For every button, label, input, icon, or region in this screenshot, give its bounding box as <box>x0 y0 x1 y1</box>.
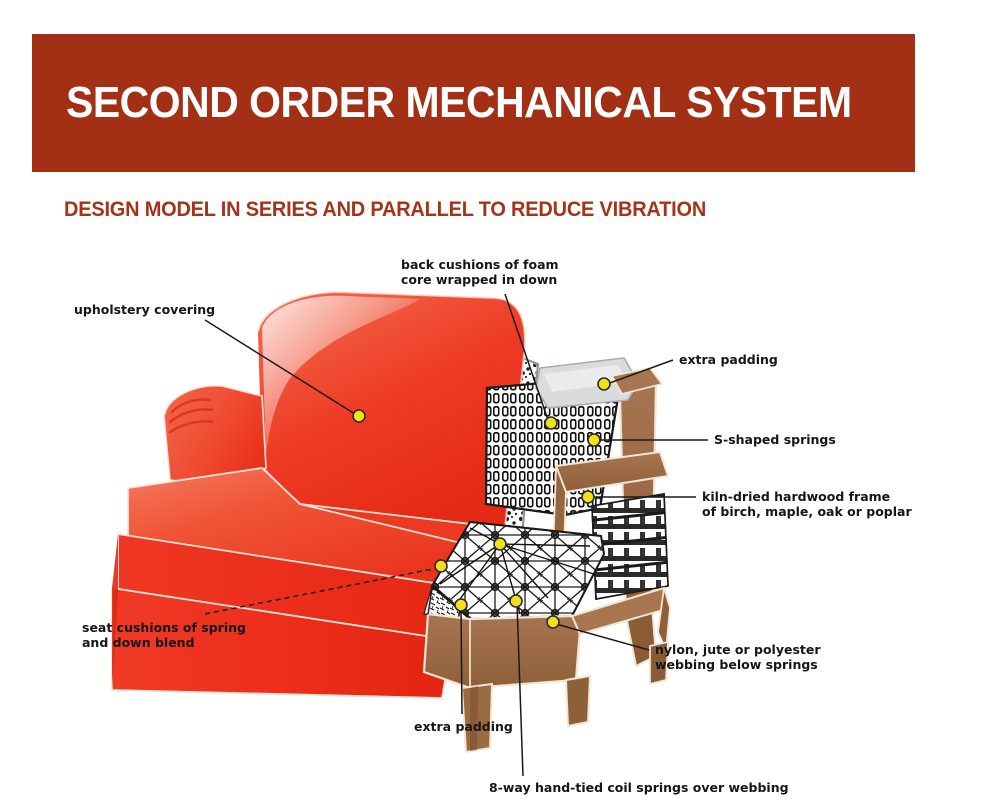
marker-nylon-jute-webbing <box>547 616 559 628</box>
sofa-cutaway-diagram: upholstery covering back cushions of foa… <box>0 236 985 802</box>
label-kiln-dried-frame: kiln-dried hardwood frame of birch, mapl… <box>702 489 912 519</box>
marker-extra-padding-bottom <box>455 599 467 611</box>
marker-back-cushions <box>545 417 557 429</box>
label-extra-padding-top: extra padding <box>679 352 778 367</box>
page-subtitle: DESIGN MODEL IN SERIES AND PARALLEL TO R… <box>64 198 706 222</box>
marker-coil-springs <box>510 595 522 607</box>
label-extra-padding-bottom: extra padding <box>414 719 513 734</box>
title-banner: SECOND ORDER MECHANICAL SYSTEM <box>32 34 915 172</box>
label-back-cushions: back cushions of foam core wrapped in do… <box>401 257 563 287</box>
page-title: SECOND ORDER MECHANICAL SYSTEM <box>66 80 852 126</box>
slide-canvas: SECOND ORDER MECHANICAL SYSTEM DESIGN MO… <box>0 0 985 802</box>
marker-s-shaped-springs <box>588 434 600 446</box>
marker-kiln-dried-frame <box>582 491 594 503</box>
upholstery-back-panel <box>258 292 525 528</box>
label-s-shaped-springs: S-shaped springs <box>714 432 836 447</box>
label-coil-springs: 8-way hand-tied coil springs over webbin… <box>489 780 789 795</box>
sofa-illustration <box>112 292 680 752</box>
leader-extra-padding-bottom <box>461 607 462 714</box>
marker-seat-cushions <box>435 560 447 572</box>
label-upholstery-covering: upholstery covering <box>74 302 215 317</box>
label-nylon-jute-webbing: nylon, jute or polyester webbing below s… <box>655 642 825 672</box>
marker-seat-deck <box>494 538 506 550</box>
marker-upholstery-covering <box>353 410 365 422</box>
marker-extra-padding-top <box>598 378 610 390</box>
